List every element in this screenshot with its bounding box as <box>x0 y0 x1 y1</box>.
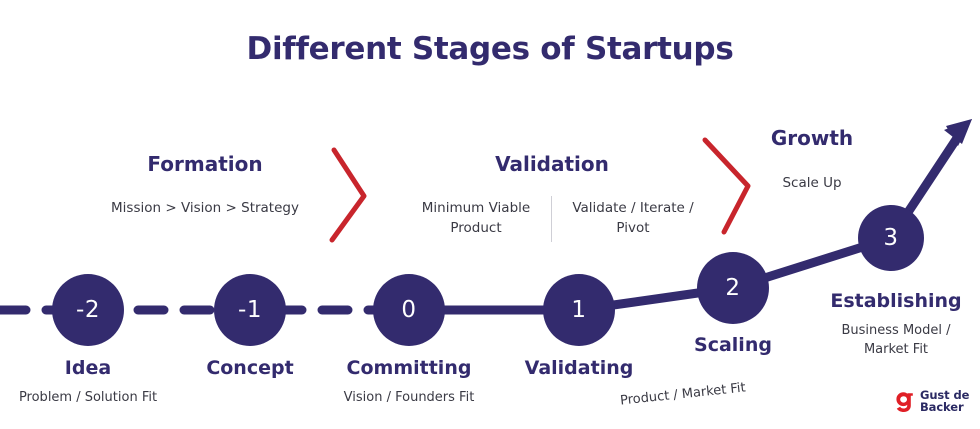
stage-label-establishing: Establishing <box>816 290 976 312</box>
chevron-separator-1-icon <box>332 150 364 240</box>
stage-label-committing: Committing <box>339 357 479 379</box>
phase-title-growth: Growth <box>712 126 912 150</box>
stage-label-scaling: Scaling <box>673 334 793 356</box>
arrow-head-icon <box>944 119 972 144</box>
stage-node-concept[interactable]: -1 <box>214 274 286 346</box>
stage-label-validating: Validating <box>514 357 644 379</box>
stage-sub-committing: Vision / Founders Fit <box>329 389 489 408</box>
page-title: Different Stages of Startups <box>0 31 980 67</box>
phase-title-formation: Formation <box>105 152 305 176</box>
phase-title-validation: Validation <box>452 152 652 176</box>
phase-sub-validation-iterate: Validate / Iterate / Pivot <box>557 199 709 238</box>
stage-label-concept: Concept <box>190 357 310 379</box>
stage-node-idea[interactable]: -2 <box>52 274 124 346</box>
logo-line-2: Backer <box>920 401 969 413</box>
stage-label-idea: Idea <box>28 357 148 379</box>
stage-node-establishing[interactable]: 3 <box>858 205 924 271</box>
phase-sub-growth: Scale Up <box>732 174 892 194</box>
phase-sub-validation-mvp: Minimum Viable Product <box>400 199 552 238</box>
phase-sub-formation: Mission > Vision > Strategy <box>95 199 315 219</box>
arrow-head-tip-icon <box>946 119 972 146</box>
logo-g-mark-icon <box>893 390 915 412</box>
stage-sub-idea: Problem / Solution Fit <box>8 389 168 408</box>
stage-sub-establishing: Business Model / Market Fit <box>818 322 974 360</box>
stage-sub-scaling: Product / Market Fit <box>602 378 763 413</box>
brand-logo[interactable]: Gust de Backer <box>893 389 969 414</box>
logo-wordmark: Gust de Backer <box>920 389 969 414</box>
phase-sub-divider <box>551 196 552 242</box>
stage-node-validating[interactable]: 1 <box>543 274 615 346</box>
stage-node-committing[interactable]: 0 <box>373 274 445 346</box>
infographic-canvas: Different Stages of Startups Formation M… <box>0 0 980 429</box>
stage-node-scaling[interactable]: 2 <box>697 252 769 324</box>
